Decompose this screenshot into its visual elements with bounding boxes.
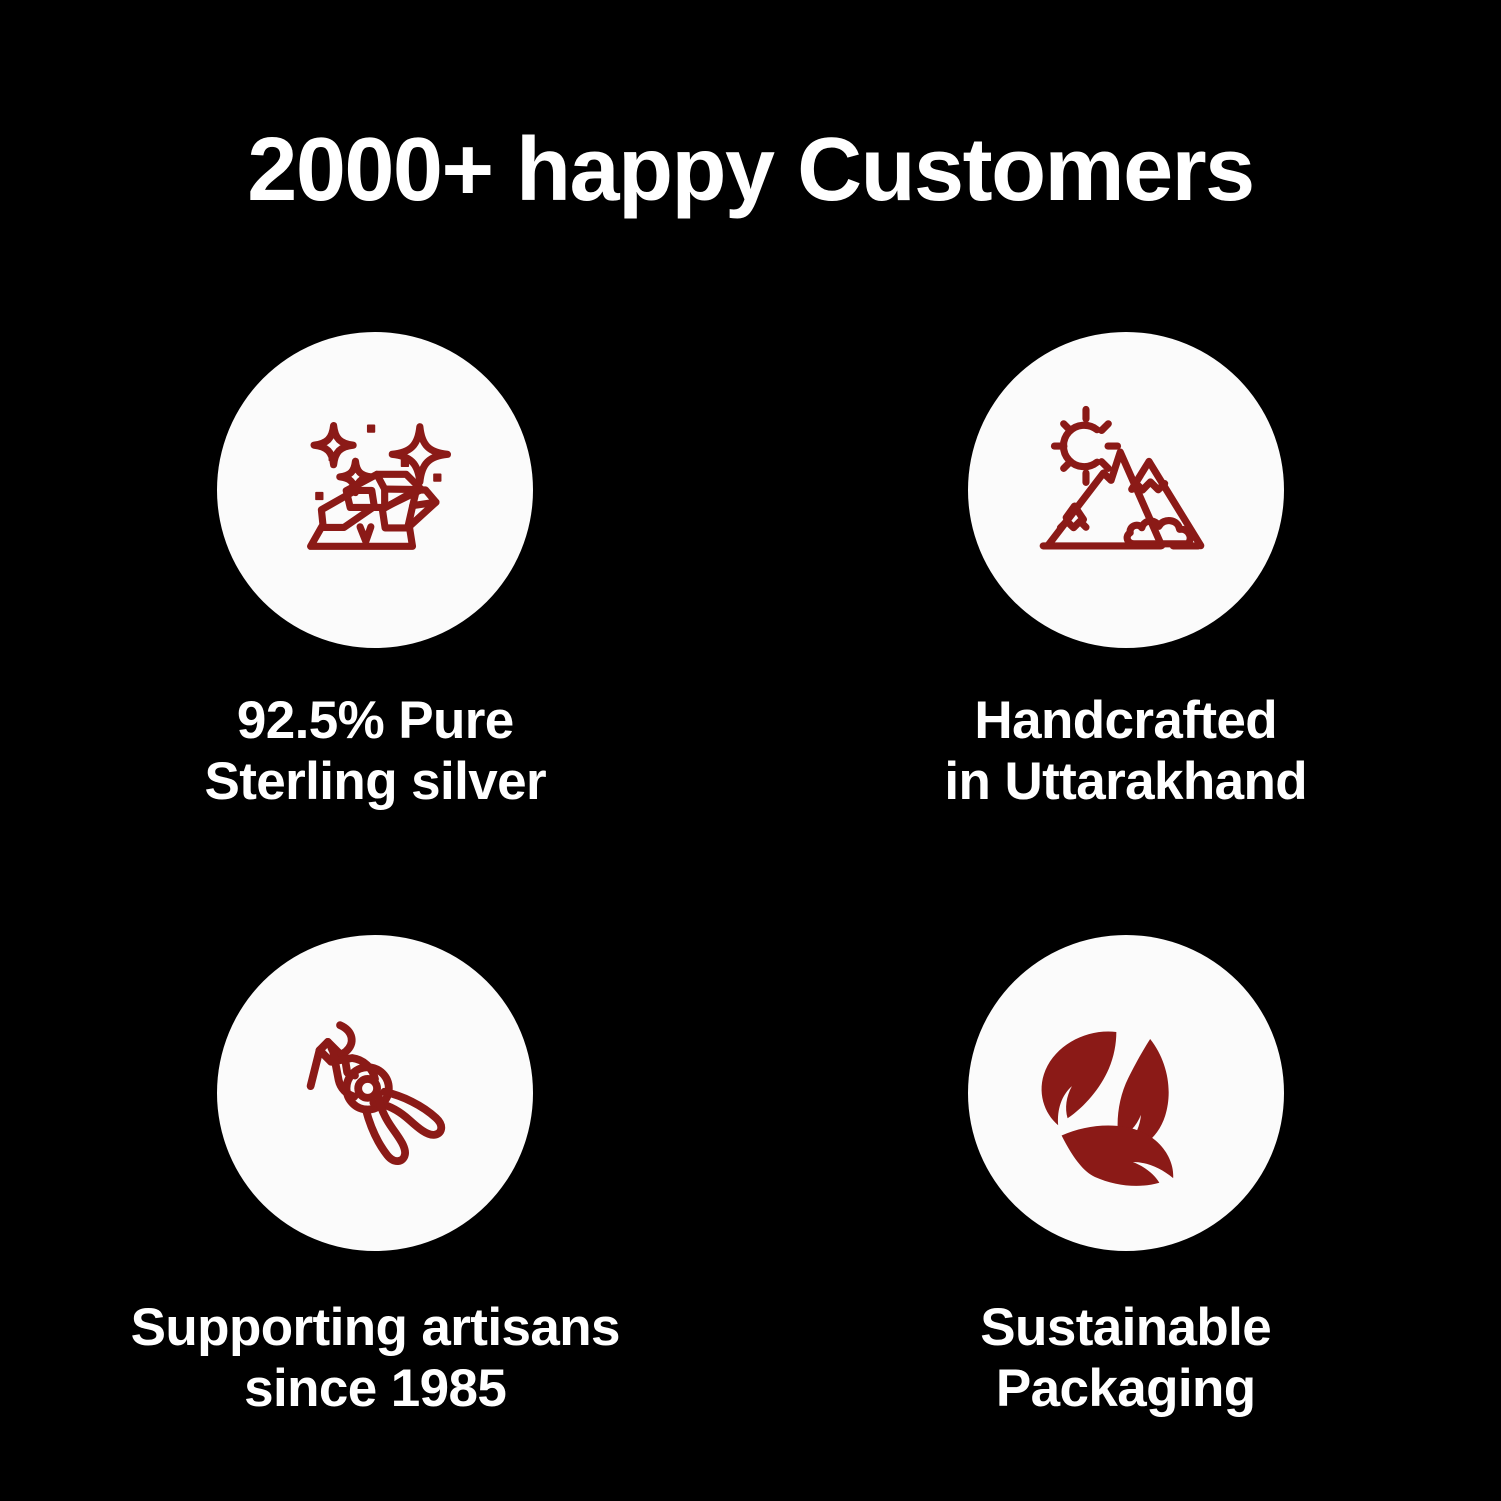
mountains-sun-icon <box>1011 375 1241 605</box>
icon-badge <box>217 935 533 1251</box>
feature-grid: 92.5% Pure Sterling silver <box>0 332 1501 1419</box>
feature-item-sustainable-packaging: Sustainable Packaging <box>751 935 1501 1419</box>
silver-bars-icon <box>260 375 490 605</box>
promo-poster: 2000+ happy Customers <box>0 0 1501 1501</box>
page-title: 2000+ happy Customers <box>0 118 1501 222</box>
feature-item-silver-purity: 92.5% Pure Sterling silver <box>0 332 751 935</box>
icon-badge <box>968 935 1284 1251</box>
feature-item-handcrafted: Handcrafted in Uttarakhand <box>751 332 1501 935</box>
icon-badge <box>968 332 1284 648</box>
feature-label: Sustainable Packaging <box>980 1297 1271 1419</box>
feature-item-artisans: Supporting artisans since 1985 <box>0 935 751 1419</box>
feature-label: Supporting artisans since 1985 <box>131 1297 620 1419</box>
feature-label: 92.5% Pure Sterling silver <box>204 690 546 812</box>
icon-badge <box>217 332 533 648</box>
jewelry-pliers-icon <box>260 978 490 1208</box>
three-leaves-icon <box>1011 978 1241 1208</box>
feature-label: Handcrafted in Uttarakhand <box>944 690 1307 812</box>
